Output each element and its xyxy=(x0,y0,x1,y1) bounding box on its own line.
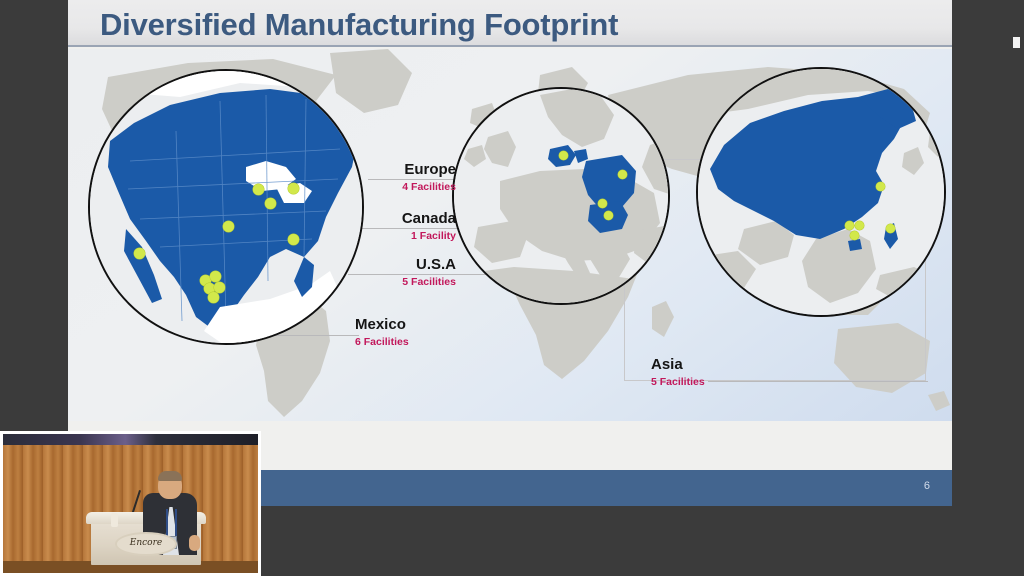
water-bottle xyxy=(111,513,118,527)
region-name-canada: Canada xyxy=(326,210,456,228)
region-name-usa: U.S.A xyxy=(326,256,456,274)
facility-dot xyxy=(855,221,864,230)
region-label-asia: Asia 5 Facilities xyxy=(651,356,781,389)
region-name-asia: Asia xyxy=(651,356,781,374)
callout-circle-north-america[interactable] xyxy=(88,69,364,345)
presenter-hair xyxy=(158,471,182,481)
facility-dot xyxy=(886,224,895,233)
callout-circle-asia[interactable] xyxy=(696,67,946,317)
region-name-europe: Europe xyxy=(326,161,456,179)
region-count-mexico: 6 Facilities xyxy=(355,335,485,349)
region-label-mexico: Mexico 6 Facilities xyxy=(355,316,485,349)
facility-dot xyxy=(604,211,613,220)
page-number: 6 xyxy=(924,480,930,492)
facility-dot xyxy=(214,282,225,293)
podium-logo-plate: Encore xyxy=(115,532,177,556)
facility-dot xyxy=(618,170,627,179)
screen: Diversified Manufacturing Footprint xyxy=(0,0,1024,576)
region-count-asia: 5 Facilities xyxy=(651,375,781,389)
region-label-usa: U.S.A 5 Facilities xyxy=(326,256,456,289)
edge-marker-icon xyxy=(1013,37,1020,48)
callout-circle-europe[interactable] xyxy=(452,87,670,305)
region-name-mexico: Mexico xyxy=(355,316,485,334)
facility-dot xyxy=(288,234,299,245)
facility-dot xyxy=(598,199,607,208)
facility-dot xyxy=(210,271,221,282)
region-label-europe: Europe 4 Facilities xyxy=(326,161,456,194)
facility-dot xyxy=(208,292,219,303)
ceiling-lighting xyxy=(3,434,258,445)
presenter-hand xyxy=(189,535,200,551)
facility-dot xyxy=(223,221,234,232)
facility-dot xyxy=(134,248,145,259)
region-label-canada: Canada 1 Facility xyxy=(326,210,456,243)
facility-dot xyxy=(265,198,276,209)
region-count-canada: 1 Facility xyxy=(326,229,456,243)
slide-title-band: Diversified Manufacturing Footprint xyxy=(68,0,952,47)
facility-dot xyxy=(288,183,299,194)
facility-dot xyxy=(876,182,885,191)
facility-dot xyxy=(253,184,264,195)
presenter-video-frame: Encore xyxy=(3,434,258,573)
page-title: Diversified Manufacturing Footprint xyxy=(100,7,618,43)
facility-dot xyxy=(559,151,568,160)
presenter-video-inset[interactable]: Encore xyxy=(0,431,261,576)
facility-dot xyxy=(845,221,854,230)
region-count-europe: 4 Facilities xyxy=(326,180,456,194)
region-count-usa: 5 Facilities xyxy=(326,275,456,289)
podium-logo-text: Encore xyxy=(117,538,175,548)
world-map: Europe 4 Facilities Canada 1 Facility U.… xyxy=(68,49,952,421)
facility-dot xyxy=(850,231,859,240)
